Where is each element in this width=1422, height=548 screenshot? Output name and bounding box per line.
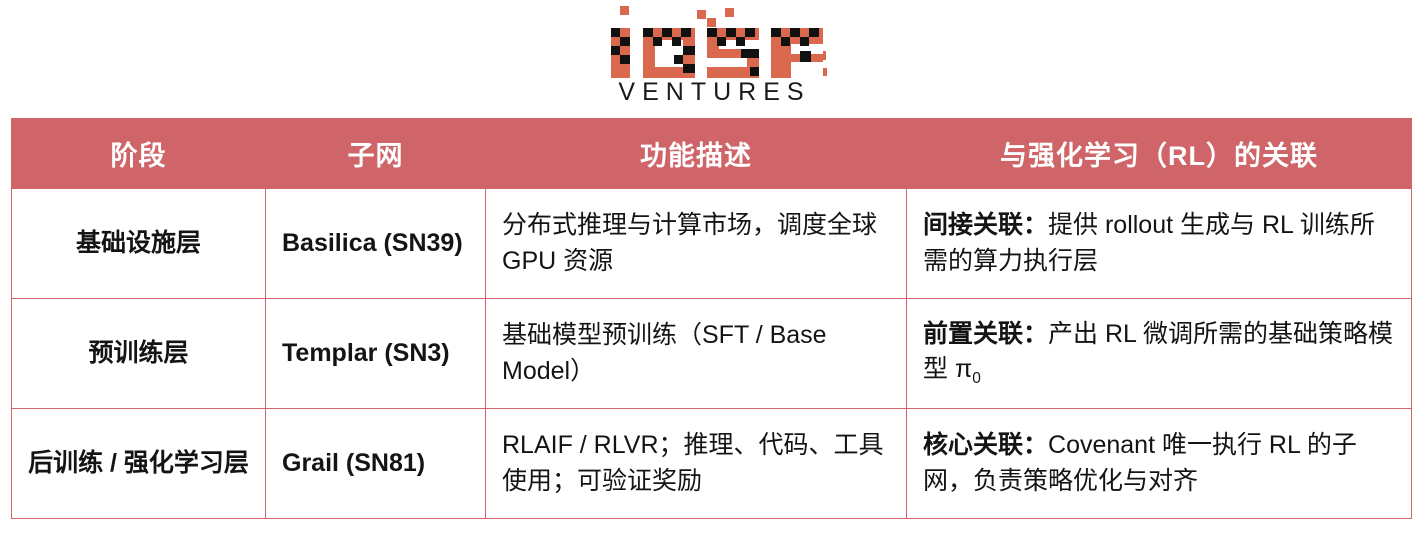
subnet-rl-mapping-table-wrapper: 阶段 子网 功能描述 与强化学习（RL）的关联 基础设施层 Basilica (… (11, 118, 1411, 519)
cell-rl-relation: 前置关联：产出 RL 微调所需的基础策略模型 π0 (907, 299, 1412, 409)
rl-relation-lead: 前置关联： (923, 320, 1048, 348)
brand-logo-area: VENTURES (0, 0, 1422, 118)
cell-subnet: Grail (SN81) (266, 409, 486, 519)
iosg-ventures-logo: VENTURES (595, 4, 827, 108)
cell-description: 分布式推理与计算市场，调度全球 GPU 资源 (486, 189, 907, 299)
cell-subnet: Templar (SN3) (266, 299, 486, 409)
table-body: 基础设施层 Basilica (SN39) 分布式推理与计算市场，调度全球 GP… (12, 189, 1412, 519)
table-row: 基础设施层 Basilica (SN39) 分布式推理与计算市场，调度全球 GP… (12, 189, 1412, 299)
table-row: 后训练 / 强化学习层 Grail (SN81) RLAIF / RLVR；推理… (12, 409, 1412, 519)
cell-rl-relation: 间接关联：提供 rollout 生成与 RL 训练所需的算力执行层 (907, 189, 1412, 299)
rl-relation-lead: 间接关联： (923, 211, 1048, 239)
column-header-description: 功能描述 (486, 119, 907, 189)
logo-wordmark: VENTURES (595, 78, 827, 107)
table-header-row: 阶段 子网 功能描述 与强化学习（RL）的关联 (12, 119, 1412, 189)
subnet-rl-mapping-table: 阶段 子网 功能描述 与强化学习（RL）的关联 基础设施层 Basilica (… (11, 118, 1412, 519)
iosg-pixel-logomark (595, 4, 827, 78)
cell-subnet: Basilica (SN39) (266, 189, 486, 299)
table-head: 阶段 子网 功能描述 与强化学习（RL）的关联 (12, 119, 1412, 189)
cell-stage: 基础设施层 (12, 189, 266, 299)
cell-description: RLAIF / RLVR；推理、代码、工具使用；可验证奖励 (486, 409, 907, 519)
column-header-rl-relation: 与强化学习（RL）的关联 (907, 119, 1412, 189)
cell-description: 基础模型预训练（SFT / Base Model） (486, 299, 907, 409)
column-header-stage: 阶段 (12, 119, 266, 189)
rl-relation-lead: 核心关联： (923, 431, 1048, 459)
policy-model-subscript: 0 (972, 370, 981, 387)
iosg-logomark-svg (595, 4, 827, 78)
column-header-subnet: 子网 (266, 119, 486, 189)
cell-stage: 后训练 / 强化学习层 (12, 409, 266, 519)
table-row: 预训练层 Templar (SN3) 基础模型预训练（SFT / Base Mo… (12, 299, 1412, 409)
cell-stage: 预训练层 (12, 299, 266, 409)
cell-rl-relation: 核心关联：Covenant 唯一执行 RL 的子网，负责策略优化与对齐 (907, 409, 1412, 519)
